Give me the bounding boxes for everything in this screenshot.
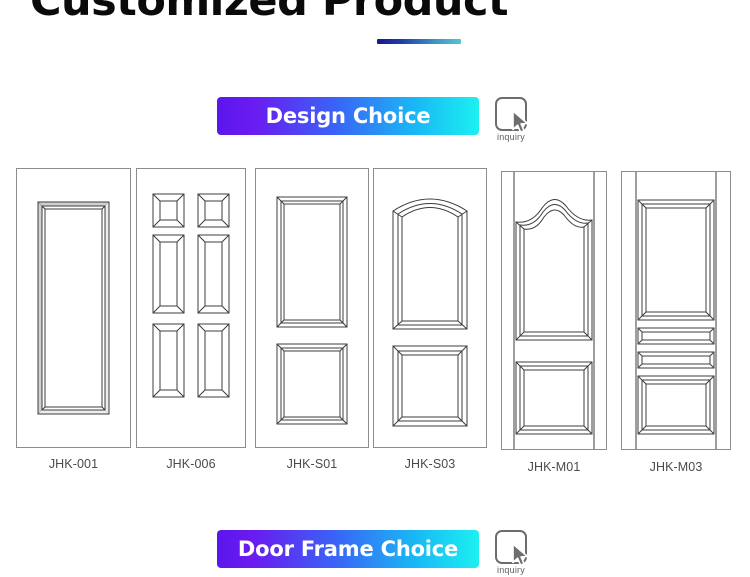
cursor-pointer-icon [510, 110, 532, 134]
door-design-grid: JHK-001 [0, 168, 750, 478]
title-underline-accent [377, 39, 461, 44]
design-inquiry-block[interactable]: inquiry [489, 97, 533, 142]
door-illustration-jhk-006 [137, 169, 245, 447]
door-cell-jhk-m01[interactable]: JHK-M01 [501, 171, 607, 474]
door-illustration-jhk-m03 [622, 172, 730, 449]
page-title: Customized Product [0, 0, 750, 24]
door-card-jhk-001[interactable] [16, 168, 131, 448]
door-label-jhk-m03: JHK-M03 [650, 460, 703, 474]
door-frame-choice-label: Door Frame Choice [238, 539, 458, 560]
inquiry-box-outline[interactable] [495, 97, 527, 131]
design-choice-label: Design Choice [266, 106, 431, 127]
door-frame-choice-section-bar: Door Frame Choice inquiry [0, 530, 750, 575]
door-illustration-jhk-s03 [374, 169, 486, 447]
cursor-pointer-icon [510, 543, 532, 567]
door-card-jhk-m03[interactable] [621, 171, 731, 450]
door-card-jhk-m01[interactable] [501, 171, 607, 450]
door-illustration-jhk-m01 [502, 172, 606, 449]
door-label-jhk-s03: JHK-S03 [405, 457, 456, 471]
design-choice-section-bar: Design Choice inquiry [0, 97, 750, 142]
door-illustration-jhk-s01 [256, 169, 368, 447]
door-frame-choice-button[interactable]: Door Frame Choice [217, 530, 479, 568]
door-cell-jhk-001[interactable]: JHK-001 [16, 168, 131, 471]
door-card-jhk-s01[interactable] [255, 168, 369, 448]
page-header: Customized Product [0, 0, 750, 24]
door-card-jhk-006[interactable] [136, 168, 246, 448]
door-label-jhk-s01: JHK-S01 [287, 457, 338, 471]
inquiry-box-outline[interactable] [495, 530, 527, 564]
door-cell-jhk-s01[interactable]: JHK-S01 [255, 168, 369, 471]
door-label-jhk-m01: JHK-M01 [528, 460, 581, 474]
door-label-jhk-006: JHK-006 [166, 457, 215, 471]
door-cell-jhk-m03[interactable]: JHK-M03 [621, 171, 731, 474]
design-inquiry-label: inquiry [497, 133, 525, 142]
door-cell-jhk-006[interactable]: JHK-006 [136, 168, 246, 471]
design-choice-button[interactable]: Design Choice [217, 97, 479, 135]
frame-inquiry-label: inquiry [497, 566, 525, 575]
door-illustration-jhk-001 [17, 169, 130, 447]
frame-inquiry-block[interactable]: inquiry [489, 530, 533, 575]
door-card-jhk-s03[interactable] [373, 168, 487, 448]
door-cell-jhk-s03[interactable]: JHK-S03 [373, 168, 487, 471]
door-label-jhk-001: JHK-001 [49, 457, 98, 471]
